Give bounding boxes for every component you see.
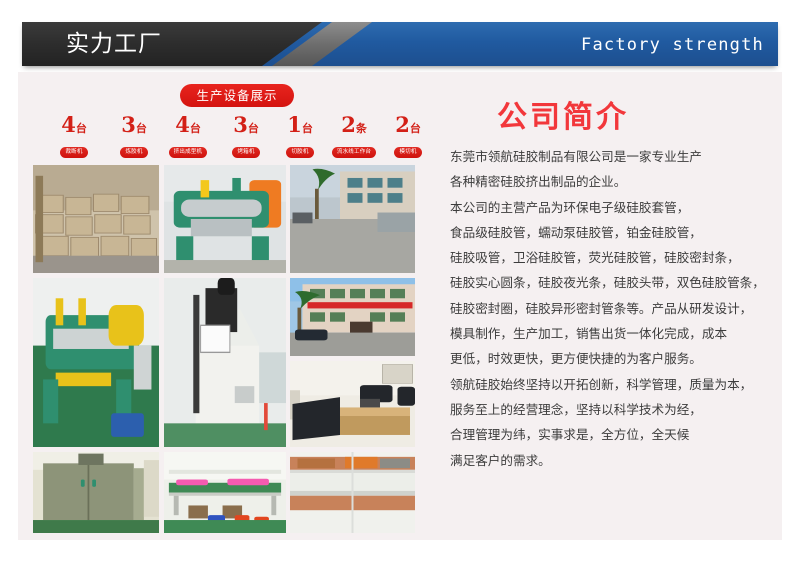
company-profile-line: 合理管理为纬，实事求是，全方位，全天候: [450, 422, 780, 447]
equipment-counter-label: 烤箱机: [232, 147, 259, 158]
photo-showroom-display-shelf: [290, 452, 415, 533]
equipment-counter-6: 2条流水线工作台: [326, 114, 382, 158]
photo-oven-cabinet: [33, 452, 159, 533]
company-profile-line: 领航硅胶始终坚持以开拓创新，科学管理，质量为本，: [450, 372, 780, 397]
company-profile-line: 本公司的主营产品为环保电子级硅胶套管，: [450, 195, 780, 220]
company-profile-line: 满足客户的需求。: [450, 448, 780, 473]
equipment-counter-unit: 台: [190, 122, 201, 135]
header-title-cn: 实力工厂: [66, 22, 162, 66]
equipment-counter-5: 1台切胶机: [272, 114, 328, 158]
company-profile-line: 硅胶密封圈，硅胶异形密封管条等。产品从研发设计，: [450, 296, 780, 321]
equipment-counter-unit: 台: [302, 122, 313, 135]
equipment-counter-number: 2台: [380, 114, 436, 140]
equipment-counter-label: 模切机: [394, 147, 421, 158]
equipment-section: 生产设备展示 4台裁断机3台炼胶机4台挤出成型机3台烤箱机1台切胶机2条流水线工…: [32, 82, 428, 532]
photo-white-extruder-machine: [164, 278, 286, 447]
equipment-counter-list: 4台裁断机3台炼胶机4台挤出成型机3台烤箱机1台切胶机2条流水线工作台2台模切机: [32, 114, 428, 164]
photo-factory-street-gate: [290, 165, 415, 273]
photo-warehouse-cartons: [33, 165, 159, 273]
company-profile-line: 模具制作，生产加工，销售出货一体化完成，成本: [450, 321, 780, 346]
company-profile-section: 公司简介 东莞市领航硅胶制品有限公司是一家专业生产各种精密硅胶挤出制品的企业。本…: [438, 84, 778, 534]
equipment-counter-unit: 台: [136, 122, 147, 135]
photo-green-calender-machine: [33, 278, 159, 447]
page-header-banner: 实力工厂 Factory strength: [22, 22, 778, 68]
equipment-counter-number: 3台: [218, 114, 274, 140]
photo-rubber-mixing-mill: [164, 165, 286, 273]
equipment-counter-label: 挤出成型机: [169, 147, 208, 158]
equipment-counter-7: 2台模切机: [380, 114, 436, 158]
company-profile-line: 东莞市领航硅胶制品有限公司是一家专业生产: [450, 144, 780, 169]
photo-factory-building-sign: [290, 278, 415, 356]
equipment-counter-unit: 台: [410, 122, 421, 135]
company-profile-title: 公司简介: [438, 92, 688, 136]
factory-photo-grid: [33, 165, 415, 533]
equipment-counter-number: 4台: [46, 114, 102, 140]
equipment-counter-1: 4台裁断机: [46, 114, 102, 158]
equipment-counter-label: 流水线工作台: [332, 147, 376, 158]
equipment-counter-2: 3台炼胶机: [106, 114, 162, 158]
equipment-counter-label: 炼胶机: [120, 147, 147, 158]
company-profile-line: 食品级硅胶管，蠕动泵硅胶管，铂金硅胶管，: [450, 220, 780, 245]
equipment-counter-label: 切胶机: [286, 147, 313, 158]
company-profile-line: 硅胶实心圆条，硅胶夜光条，硅胶头带，双色硅胶管条，: [450, 270, 780, 295]
content-panel: 生产设备展示 4台裁断机3台炼胶机4台挤出成型机3台烤箱机1台切胶机2条流水线工…: [18, 72, 782, 540]
company-profile-line: 各种精密硅胶挤出制品的企业。: [450, 169, 780, 194]
equipment-counter-number: 4台: [160, 114, 216, 140]
company-profile-line: 更低，时效更快，更方便快捷的为客户服务。: [450, 346, 780, 371]
company-profile-text: 东莞市领航硅胶制品有限公司是一家专业生产各种精密硅胶挤出制品的企业。本公司的主营…: [450, 144, 780, 473]
equipment-counter-number: 3台: [106, 114, 162, 140]
equipment-counter-number: 1台: [272, 114, 328, 140]
equipment-counter-4: 3台烤箱机: [218, 114, 274, 158]
equipment-counter-label: 裁断机: [60, 147, 87, 158]
equipment-counter-3: 4台挤出成型机: [160, 114, 216, 158]
equipment-counter-unit: 条: [356, 122, 367, 135]
company-profile-line: 服务至上的经营理念，坚持以科学技术为经，: [450, 397, 780, 422]
equipment-section-badge: 生产设备展示: [180, 84, 294, 107]
photo-office-reception-sofa: [290, 361, 415, 447]
header-title-en: Factory strength: [581, 22, 764, 66]
equipment-counter-number: 2条: [326, 114, 382, 140]
equipment-counter-unit: 台: [248, 122, 259, 135]
photo-assembly-workbench: [164, 452, 286, 533]
equipment-counter-unit: 台: [76, 122, 87, 135]
company-profile-line: 硅胶吸管，卫浴硅胶管，荧光硅胶管，硅胶密封条，: [450, 245, 780, 270]
